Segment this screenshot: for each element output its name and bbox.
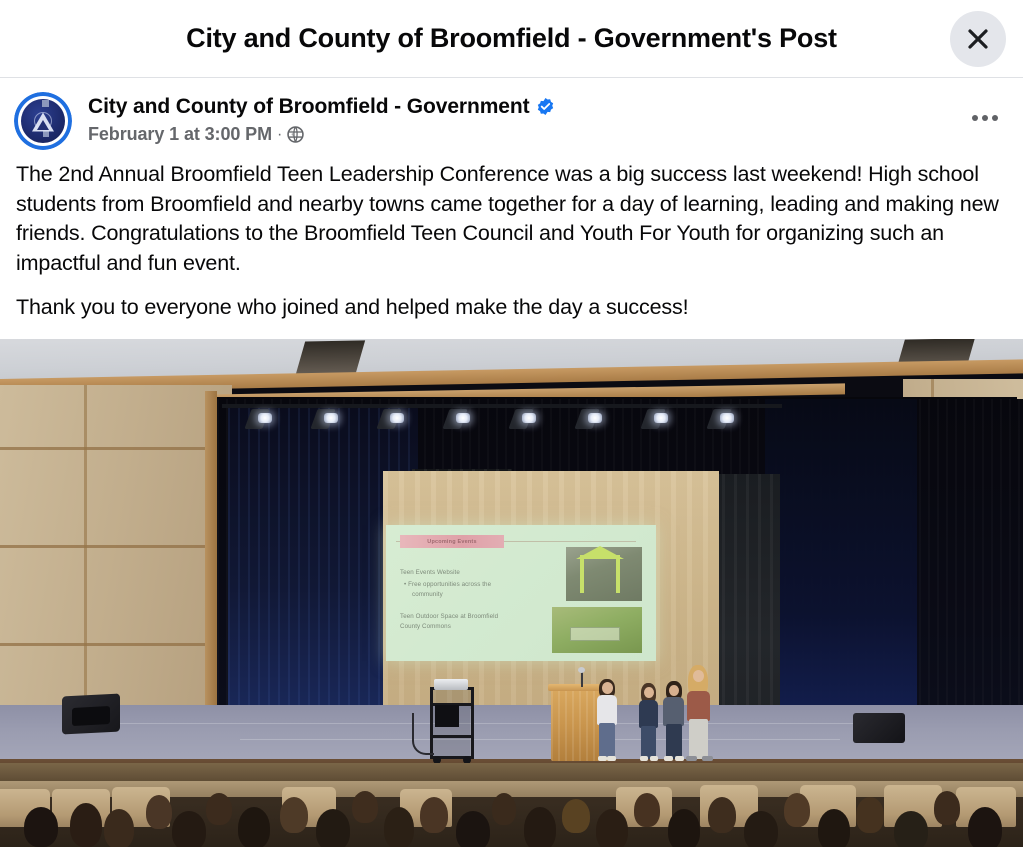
post-photo[interactable]: Upcoming Events Teen Events Website • Fr… [0, 339, 1023, 847]
page-title: City and County of Broomfield - Governme… [106, 23, 917, 54]
post-timestamp[interactable]: February 1 at 3:00 PM [88, 124, 272, 145]
author-name[interactable]: City and County of Broomfield - Governme… [88, 94, 529, 119]
close-icon [967, 28, 989, 50]
slide-line-5: County Commons [400, 623, 451, 630]
post-body: City and County of Broomfield - Governme… [0, 78, 1023, 847]
person-student-1 [637, 683, 661, 759]
av-equipment-cart [430, 687, 474, 759]
slide-line-4: Teen Outdoor Space at Broomfield [400, 613, 498, 620]
projected-slide: Upcoming Events Teen Events Website • Fr… [386, 525, 656, 661]
dialog-header: City and County of Broomfield - Governme… [0, 0, 1023, 78]
slide-line-1: Teen Events Website [400, 569, 460, 576]
slide-line-3: community [412, 591, 443, 598]
slide-banner-text: Upcoming Events [427, 539, 476, 545]
avatar[interactable] [14, 92, 72, 150]
slide-banner: Upcoming Events [400, 535, 504, 548]
post-header: City and County of Broomfield - Governme… [0, 78, 1023, 152]
globe-public-icon [287, 126, 304, 143]
person-student-3 [684, 665, 714, 759]
stage-monitor-speaker-right [853, 713, 905, 743]
post-more-options-button[interactable] [963, 96, 1007, 140]
post-paragraph-2: Thank you to everyone who joined and hel… [16, 293, 1007, 323]
post-meta-row: February 1 at 3:00 PM · [88, 124, 555, 145]
person-presenter [594, 679, 620, 759]
post-message: The 2nd Annual Broomfield Teen Leadershi… [0, 152, 1023, 322]
verified-badge-icon [536, 97, 555, 116]
close-button[interactable] [950, 11, 1006, 67]
stage-monitor-speaker-left [62, 694, 120, 735]
post-dialog: City and County of Broomfield - Governme… [0, 0, 1023, 847]
ellipsis-icon [972, 115, 978, 121]
slide-line-2: • Free opportunities across the [404, 581, 491, 588]
audience [0, 763, 1023, 847]
slide-image-pavilion [566, 547, 642, 601]
city-seal-icon [21, 99, 65, 143]
stage-light-batten [222, 401, 782, 447]
slide-image-park [552, 607, 642, 653]
post-author-block: City and County of Broomfield - Governme… [88, 92, 555, 145]
post-paragraph-1: The 2nd Annual Broomfield Teen Leadershi… [16, 160, 1007, 279]
auditorium-photo: Upcoming Events Teen Events Website • Fr… [0, 339, 1023, 847]
projector [434, 679, 468, 690]
author-name-row: City and County of Broomfield - Governme… [88, 94, 555, 119]
meta-separator: · [277, 126, 282, 144]
